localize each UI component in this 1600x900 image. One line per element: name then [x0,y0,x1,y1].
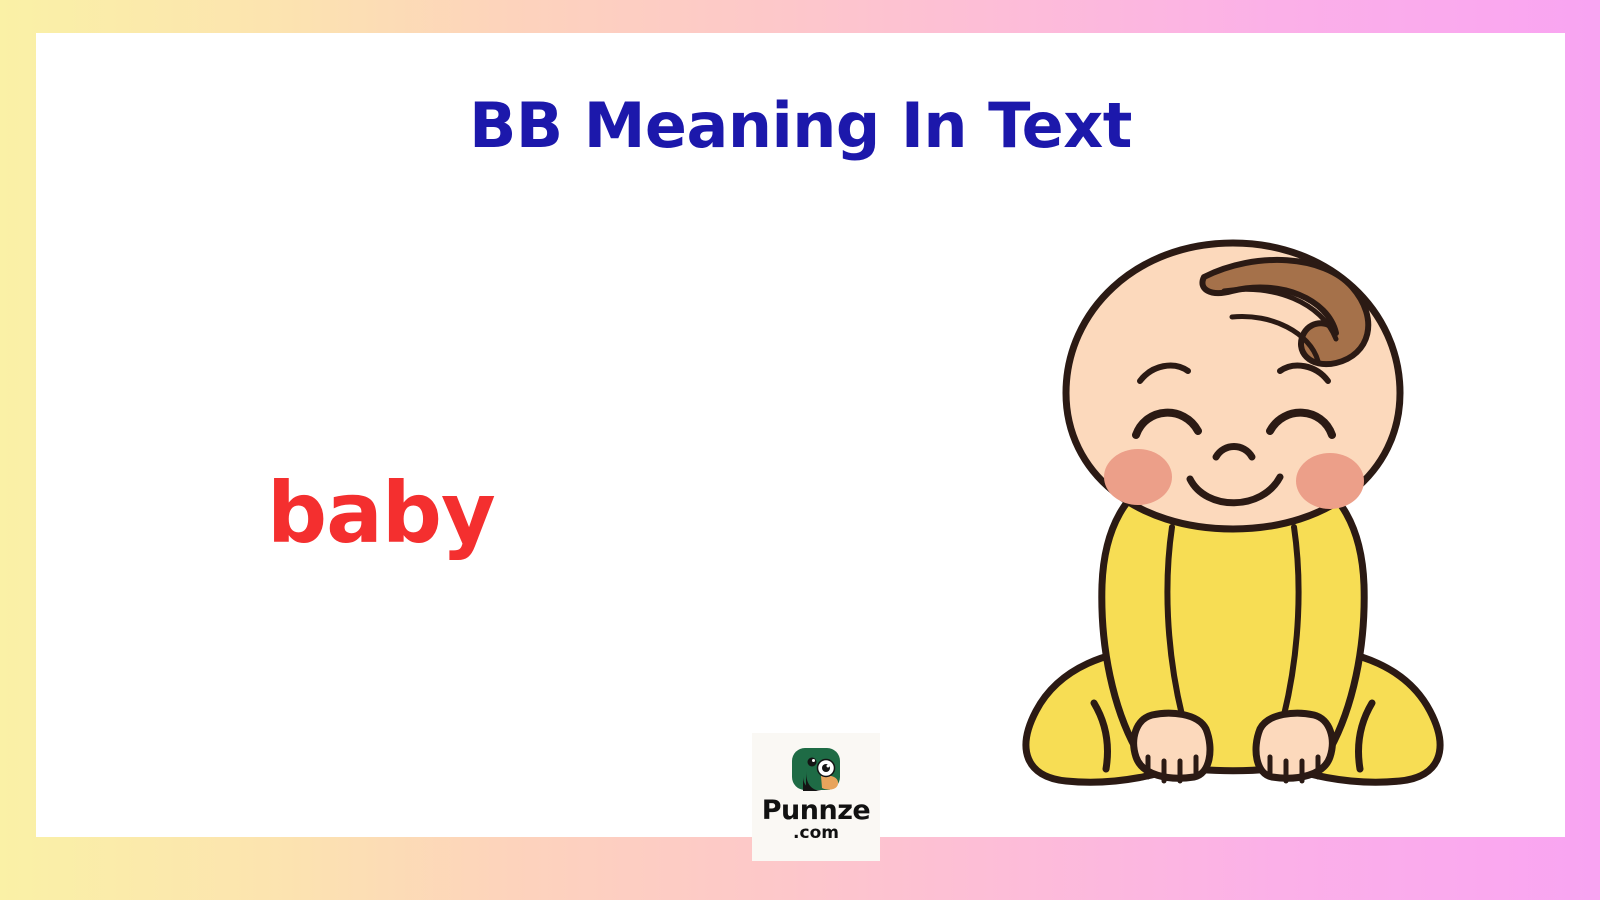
logo-small-eye [808,758,817,767]
punnze-duck-logo-icon [786,745,846,795]
baby-right-cheek [1296,453,1364,509]
baby-figure-svg [1018,229,1448,789]
brand-name: Punnze [762,797,870,824]
baby-right-hand [1256,713,1332,778]
brand-watermark[interactable]: Punnze .com [752,733,880,861]
page-title: BB Meaning In Text [36,89,1565,162]
baby-left-hand [1134,713,1210,778]
brand-tld: .com [793,825,839,842]
sitting-baby-illustration [1018,229,1448,789]
keyword-label: baby [267,471,495,555]
logo-big-eye-glint [827,765,830,768]
poster-canvas: BB Meaning In Text baby [0,0,1600,900]
logo-small-eye-glint [812,759,815,762]
baby-left-cheek [1104,449,1172,505]
poster-card: BB Meaning In Text baby [36,33,1565,837]
